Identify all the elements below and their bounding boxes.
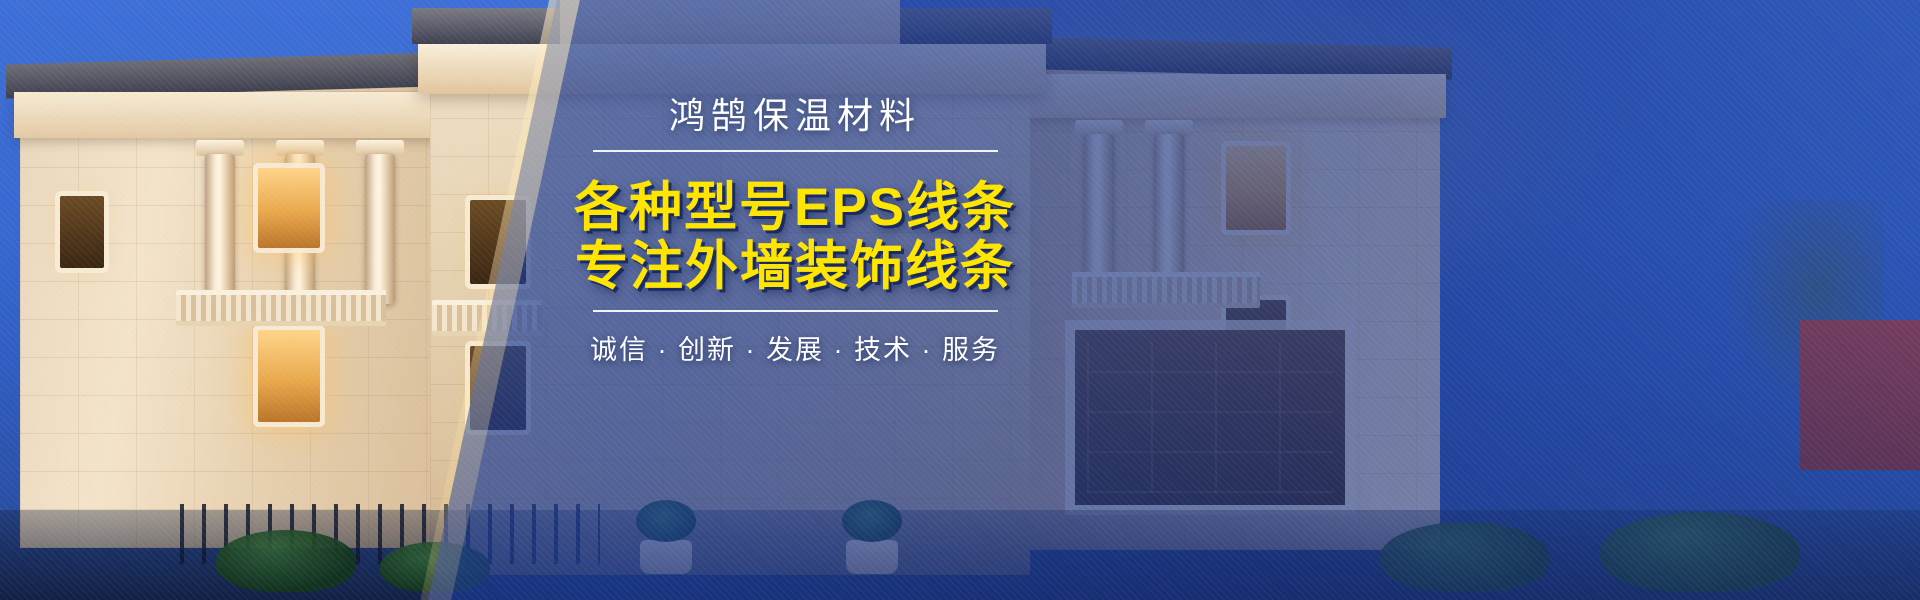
shrub bbox=[216, 530, 356, 592]
column bbox=[205, 154, 235, 304]
window bbox=[60, 196, 104, 268]
window-lit bbox=[258, 330, 320, 422]
headline-line-2: 专注外墙装饰线条 bbox=[560, 237, 1030, 296]
divider-top bbox=[593, 150, 998, 152]
cornice-left bbox=[14, 92, 460, 138]
balustrade bbox=[176, 290, 386, 326]
tagline: 诚信 · 创新 · 发展 · 技术 · 服务 bbox=[560, 328, 1030, 367]
window-lit bbox=[258, 168, 320, 248]
column bbox=[365, 154, 395, 304]
divider-bottom bbox=[593, 310, 998, 312]
headline-group: 各种型号EPS线条 专注外墙装饰线条 bbox=[560, 178, 1030, 297]
headline-line-1: 各种型号EPS线条 bbox=[560, 178, 1030, 237]
brand-name: 鸿鹄保温材料 bbox=[560, 96, 1030, 136]
hero-banner: 鸿鹄保温材料 各种型号EPS线条 专注外墙装饰线条 诚信 · 创新 · 发展 ·… bbox=[0, 0, 1920, 600]
spacer bbox=[560, 367, 1030, 377]
banner-text-block: 鸿鹄保温材料 各种型号EPS线条 专注外墙装饰线条 诚信 · 创新 · 发展 ·… bbox=[560, 96, 1030, 377]
